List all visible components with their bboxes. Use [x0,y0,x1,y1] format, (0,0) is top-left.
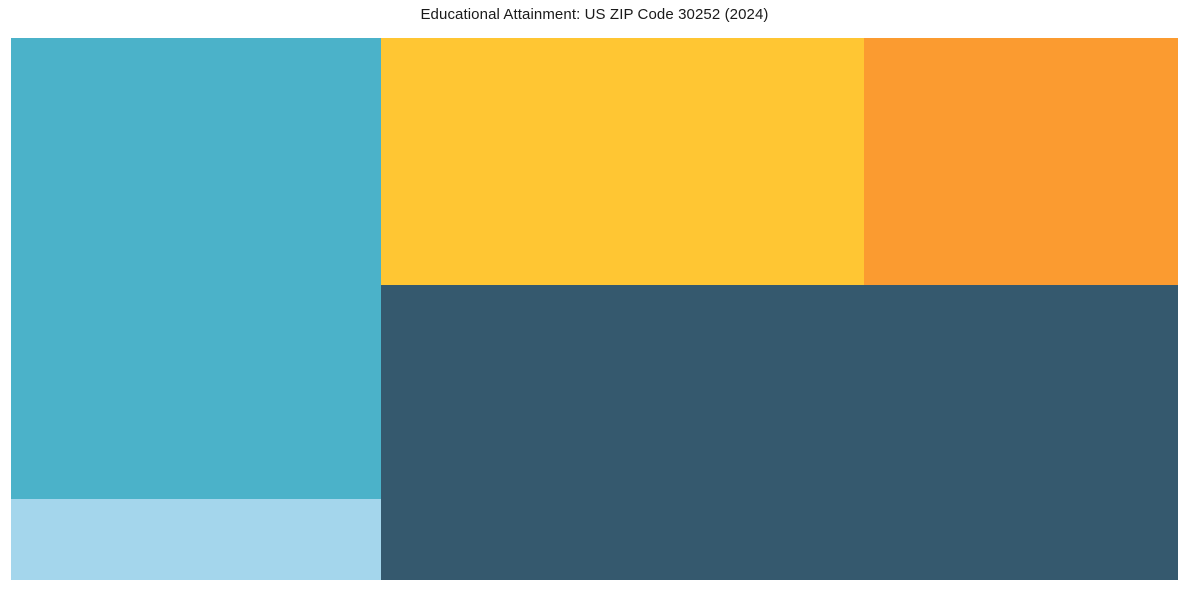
treemap-tile[interactable] [11,38,381,499]
treemap-tile[interactable] [381,285,1178,580]
treemap-tile[interactable] [864,38,1178,285]
treemap-figure: Educational Attainment: US ZIP Code 3025… [0,0,1189,590]
treemap-tile[interactable] [381,38,864,285]
treemap-tile[interactable] [11,499,381,580]
chart-title: Educational Attainment: US ZIP Code 3025… [0,6,1189,24]
treemap-plot-area [11,38,1178,580]
